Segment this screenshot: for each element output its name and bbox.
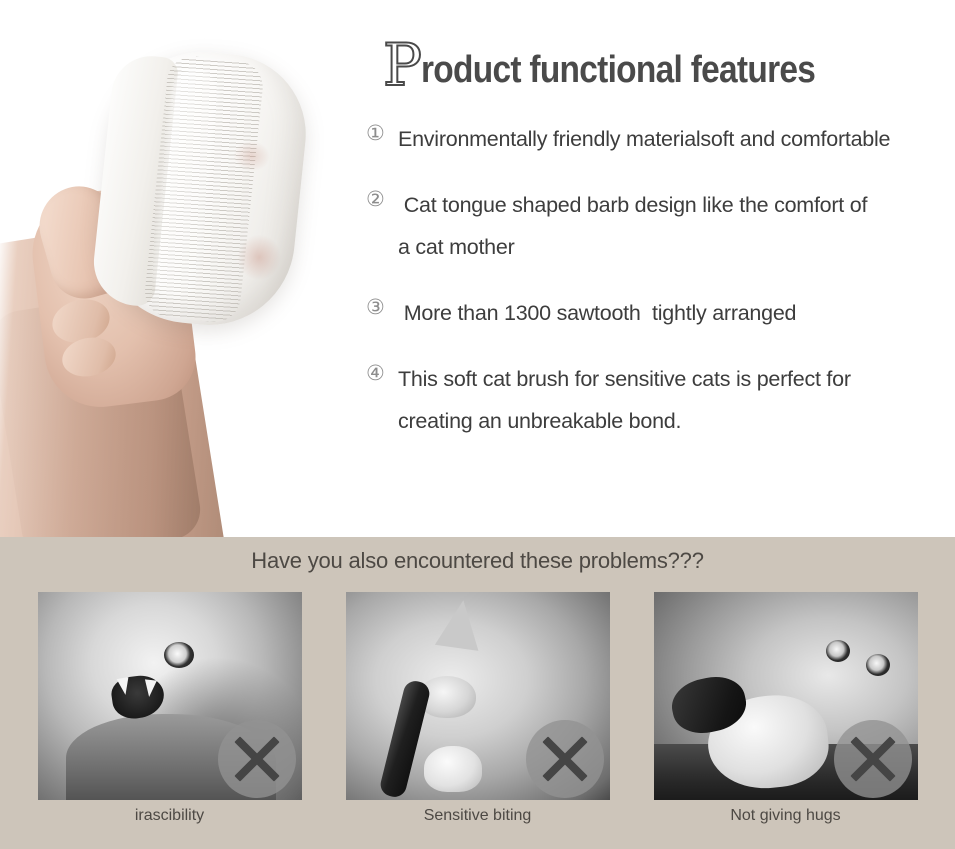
cat-fang-shape — [143, 679, 157, 697]
cat-eye-shape — [164, 642, 194, 668]
problem-photo — [346, 592, 610, 800]
x-mark-icon — [218, 720, 296, 798]
problem-card: irascibility — [38, 592, 302, 825]
cat-fang-shape — [116, 677, 131, 696]
bitten-object-shape — [378, 679, 432, 800]
cat-eye-shape — [826, 640, 850, 662]
page-title: P roduct functional features — [383, 33, 869, 91]
feature-number-icon: ④ — [366, 358, 398, 388]
x-mark-icon — [526, 720, 604, 798]
cat-paw-shape — [424, 746, 482, 792]
product-photo — [0, 0, 350, 537]
problem-photo — [654, 592, 918, 800]
cat-eye-shape — [866, 654, 890, 676]
cat-ear-shape — [434, 597, 484, 651]
title-drop-cap: P — [383, 39, 420, 91]
problem-caption: irascibility — [38, 807, 302, 825]
problem-caption: Sensitive biting — [346, 807, 610, 825]
feature-item-2: ② Cat tongue shaped barb design like the… — [366, 184, 926, 268]
feature-number-icon: ③ — [366, 292, 398, 322]
x-mark-icon — [834, 720, 912, 798]
problem-card: Sensitive biting — [346, 592, 610, 825]
feature-item-1: ① Environmentally friendly materialsoft … — [366, 118, 926, 160]
problems-panel: Have you also encountered these problems… — [0, 537, 955, 849]
problem-photo — [38, 592, 302, 800]
feature-text: Environmentally friendly materialsoft an… — [398, 118, 890, 160]
feature-text: More than 1300 sawtooth tightly arranged — [398, 292, 796, 334]
problems-heading: Have you also encountered these problems… — [0, 548, 955, 574]
cat-brush-product — [90, 43, 313, 334]
feature-item-3: ③ More than 1300 sawtooth tightly arrang… — [366, 292, 926, 334]
feature-number-icon: ② — [366, 184, 398, 214]
problem-card-list: irascibility Sensitive biting — [0, 592, 955, 825]
feature-text: This soft cat brush for sensitive cats i… — [398, 358, 918, 442]
feature-item-4: ④ This soft cat brush for sensitive cats… — [366, 358, 926, 442]
feature-number-icon: ① — [366, 118, 398, 148]
problem-caption: Not giving hugs — [654, 807, 918, 825]
product-features-panel: P roduct functional features ① Environme… — [0, 0, 955, 537]
product-infographic: P roduct functional features ① Environme… — [0, 0, 955, 849]
problem-card: Not giving hugs — [654, 592, 918, 825]
title-text: roduct functional features — [421, 49, 815, 91]
feature-list: ① Environmentally friendly materialsoft … — [366, 118, 926, 466]
feature-text: Cat tongue shaped barb design like the c… — [398, 184, 870, 268]
